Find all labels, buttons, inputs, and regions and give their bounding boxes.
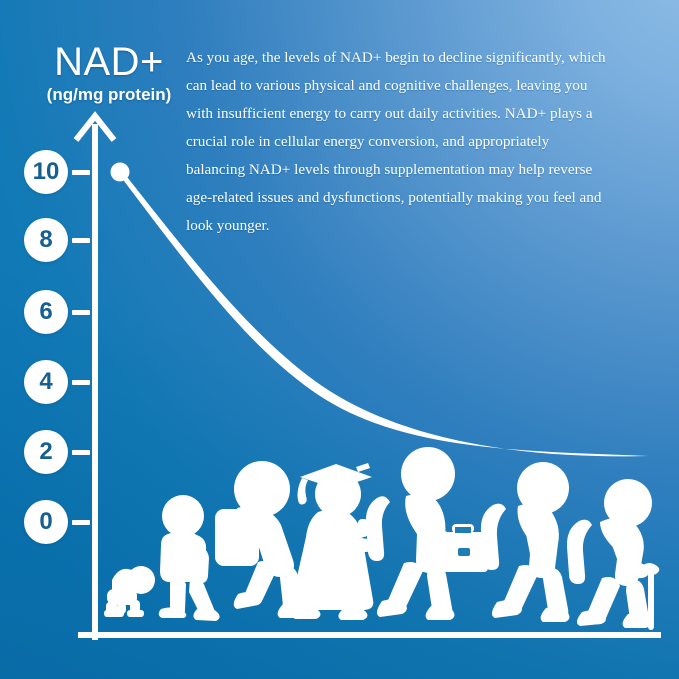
y-tick-badge-10: 10 xyxy=(24,150,68,194)
y-tick-badge-8: 8 xyxy=(24,218,68,262)
y-tick-dash-6 xyxy=(72,310,90,315)
nad-decline-infographic: NAD+ (ng/mg protein) As you age, the lev… xyxy=(0,0,679,679)
y-tick-dash-4 xyxy=(72,380,90,385)
y-tick-dash-2 xyxy=(72,450,90,455)
y-tick-badge-6: 6 xyxy=(24,290,68,334)
y-tick-dash-0 xyxy=(72,520,90,525)
y-tick-badge-2: 2 xyxy=(24,430,68,474)
y-tick-dash-8 xyxy=(72,238,90,243)
y-tick-layer: 1086420 xyxy=(0,0,679,679)
y-tick-dash-10 xyxy=(72,170,90,175)
y-tick-badge-0: 0 xyxy=(24,500,68,544)
y-tick-badge-4: 4 xyxy=(24,360,68,404)
